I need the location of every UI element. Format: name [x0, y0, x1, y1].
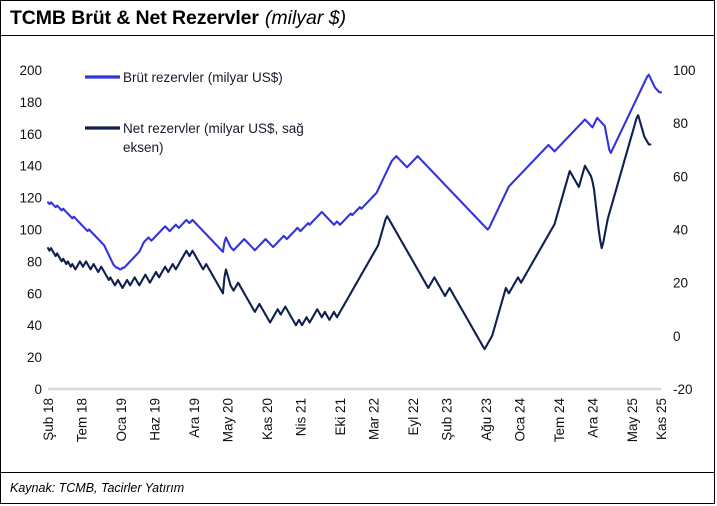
legend-label: Net rezervler (milyar US$, sağ [123, 121, 304, 136]
reserves-line-chart: 020406080100120140160180200 -20020406080… [1, 36, 716, 473]
legend-label-line2: eksen) [123, 140, 164, 155]
y-axis-left-tick: 180 [19, 95, 42, 110]
y-axis-left-tick: 140 [19, 159, 42, 174]
title-unit: (milyar $) [265, 7, 346, 30]
x-axis-tick: Oca 24 [513, 398, 528, 442]
source-note: Kaynak: TCMB, Tacirler Yatırım [10, 481, 184, 495]
y-axis-left-tick: 200 [19, 63, 42, 78]
y-axis-left-tick: 160 [19, 127, 42, 142]
x-axis-tick: May 25 [625, 398, 640, 442]
x-axis-tick: Şub 23 [440, 398, 455, 441]
chart-source-bar: Kaynak: TCMB, Tacirler Yatırım [1, 472, 714, 503]
x-axis-tick: Kas 20 [260, 398, 275, 440]
y-axis-left-labels: 020406080100120140160180200 [19, 63, 42, 397]
y-axis-right-tick: 100 [673, 63, 696, 78]
x-axis-tick: Tem 24 [552, 398, 567, 443]
y-axis-right-tick: 40 [673, 223, 688, 238]
x-axis-tick: Oca 19 [114, 398, 129, 442]
x-axis-tick: Kas 25 [654, 398, 669, 440]
y-axis-right-tick: 60 [673, 169, 688, 184]
y-axis-left-tick: 0 [34, 382, 42, 397]
x-axis-tick: Ara 24 [586, 398, 601, 438]
x-axis-tick: Ara 19 [187, 398, 202, 438]
y-axis-right-tick: 80 [673, 116, 688, 131]
x-axis-tick: Ağu 23 [479, 398, 494, 441]
chart-card: TCMB Brüt & Net Rezervler (milyar $) 020… [0, 0, 715, 504]
x-axis-tick: Haz 19 [147, 398, 162, 441]
x-axis-tick: Şub 18 [41, 398, 56, 441]
x-axis-tick: Tem 18 [74, 398, 89, 442]
y-axis-left-tick: 60 [27, 286, 42, 301]
y-axis-right-labels: -20020406080100 [673, 63, 696, 397]
x-axis-tick: Eyl 22 [406, 398, 421, 436]
x-axis-tick: Nis 21 [294, 398, 309, 436]
y-axis-left-tick: 120 [19, 191, 42, 206]
y-axis-left-tick: 40 [27, 318, 42, 333]
page-title: TCMB Brüt & Net Rezervler [10, 7, 259, 30]
chart-plot-area: 020406080100120140160180200 -20020406080… [1, 36, 716, 473]
y-axis-right-tick: -20 [673, 382, 693, 397]
x-axis-tick: Mar 22 [367, 398, 382, 440]
x-axis-labels: Şub 18Tem 18Oca 19Haz 19Ara 19May 20Kas … [41, 398, 669, 443]
y-axis-left-tick: 100 [19, 223, 42, 238]
chart-legend: Brüt rezervler (milyar US$)Net rezervler… [85, 70, 304, 155]
y-axis-left-tick: 80 [27, 254, 42, 269]
data-series-group [48, 75, 661, 349]
x-axis-tick: May 20 [220, 398, 235, 442]
x-axis-tick: Eki 21 [333, 398, 348, 436]
y-axis-left-tick: 20 [27, 350, 42, 365]
chart-title-bar: TCMB Brüt & Net Rezervler (milyar $) [1, 1, 714, 36]
y-axis-right-tick: 0 [673, 329, 681, 344]
y-axis-right-tick: 20 [673, 276, 688, 291]
legend-label: Brüt rezervler (milyar US$) [123, 70, 283, 85]
